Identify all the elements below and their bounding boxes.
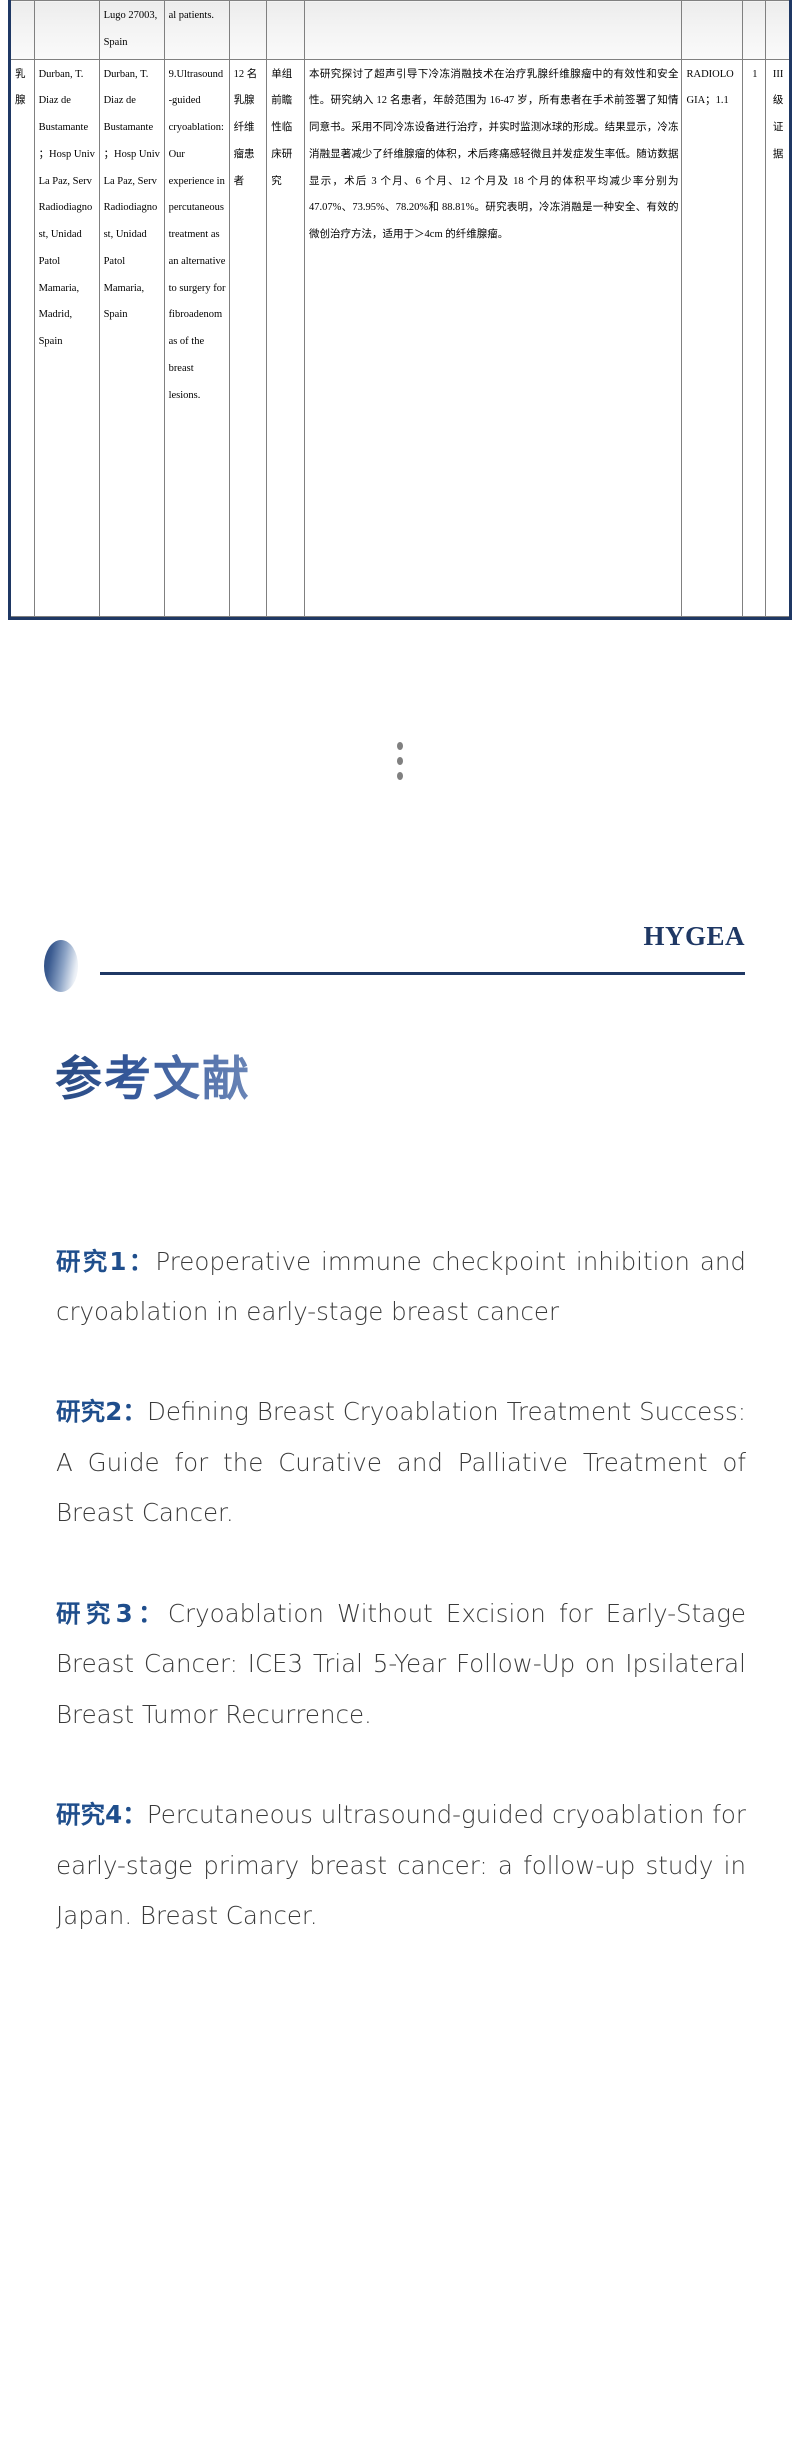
cell-sample: 12 名乳腺纤维瘤患者 — [229, 59, 267, 616]
cell-category — [11, 1, 34, 60]
cell-institution: Durban, T. Diaz de Bustamante；Hosp Univ … — [99, 59, 164, 616]
list-item: 研究2：Defining Breast Cryoablation Treatme… — [56, 1387, 746, 1538]
reference-label: 研究2： — [56, 1397, 147, 1426]
cell-level: III级证据 — [766, 59, 789, 616]
page-title: 参考文献 — [55, 1040, 251, 1109]
reference-text: Percutaneous ultrasound-guided cryoablat… — [56, 1800, 746, 1930]
table-row: 乳腺 Durban, T. Diaz de Bustamante；Hosp Un… — [11, 59, 789, 616]
cell-title: 9.Ultrasound-guided cryoablation: Our ex… — [164, 59, 229, 616]
cell-institution: Lugo 27003, Spain — [99, 1, 164, 60]
cell-level — [766, 1, 789, 60]
cell-sample — [229, 1, 267, 60]
reference-list: 研究1：Preoperative immune checkpoint inhib… — [56, 1212, 746, 1942]
ellipsis-dot — [397, 772, 403, 780]
brand-name: HYGEA — [643, 921, 745, 952]
cell-author — [34, 1, 99, 60]
cell-design: 单组前瞻性临床研究 — [267, 59, 305, 616]
literature-table-fragment: Lugo 27003, Spain al patients. 乳腺 Durban… — [8, 0, 792, 620]
cell-number: 1 — [743, 59, 766, 616]
reference-label: 研究3： — [56, 1599, 168, 1628]
vertical-ellipsis-icon — [0, 735, 800, 780]
reference-text: Defining Breast Cryoablation Treatment S… — [56, 1397, 746, 1527]
cell-design — [267, 1, 305, 60]
cell-title: al patients. — [164, 1, 229, 60]
hygea-logo-icon — [44, 940, 78, 992]
literature-table: Lugo 27003, Spain al patients. 乳腺 Durban… — [11, 0, 789, 617]
cell-abstract: 本研究探讨了超声引导下冷冻消融技术在治疗乳腺纤维腺瘤中的有效性和安全性。研究纳入… — [305, 59, 682, 616]
list-item: 研究4：Percutaneous ultrasound-guided cryoa… — [56, 1790, 746, 1941]
section-header: HYGEA — [0, 910, 800, 1020]
cell-category: 乳腺 — [11, 59, 34, 616]
table-row: Lugo 27003, Spain al patients. — [11, 1, 789, 60]
reference-text: Preoperative immune checkpoint inhibitio… — [56, 1247, 746, 1326]
cell-abstract — [305, 1, 682, 60]
cell-journal: RADIOLOGIA；1.1 — [682, 59, 743, 616]
cell-journal — [682, 1, 743, 60]
cell-number — [743, 1, 766, 60]
reference-label: 研究1： — [56, 1247, 155, 1276]
header-divider — [100, 972, 745, 975]
list-item: 研究3：Cryoablation Without Excision for Ea… — [56, 1589, 746, 1740]
cell-author: Durban, T. Diaz de Bustamante；Hosp Univ … — [34, 59, 99, 616]
list-item: 研究1：Preoperative immune checkpoint inhib… — [56, 1237, 746, 1338]
ellipsis-dot — [397, 742, 403, 750]
ellipsis-dot — [397, 757, 403, 765]
reference-label: 研究4： — [56, 1800, 147, 1829]
